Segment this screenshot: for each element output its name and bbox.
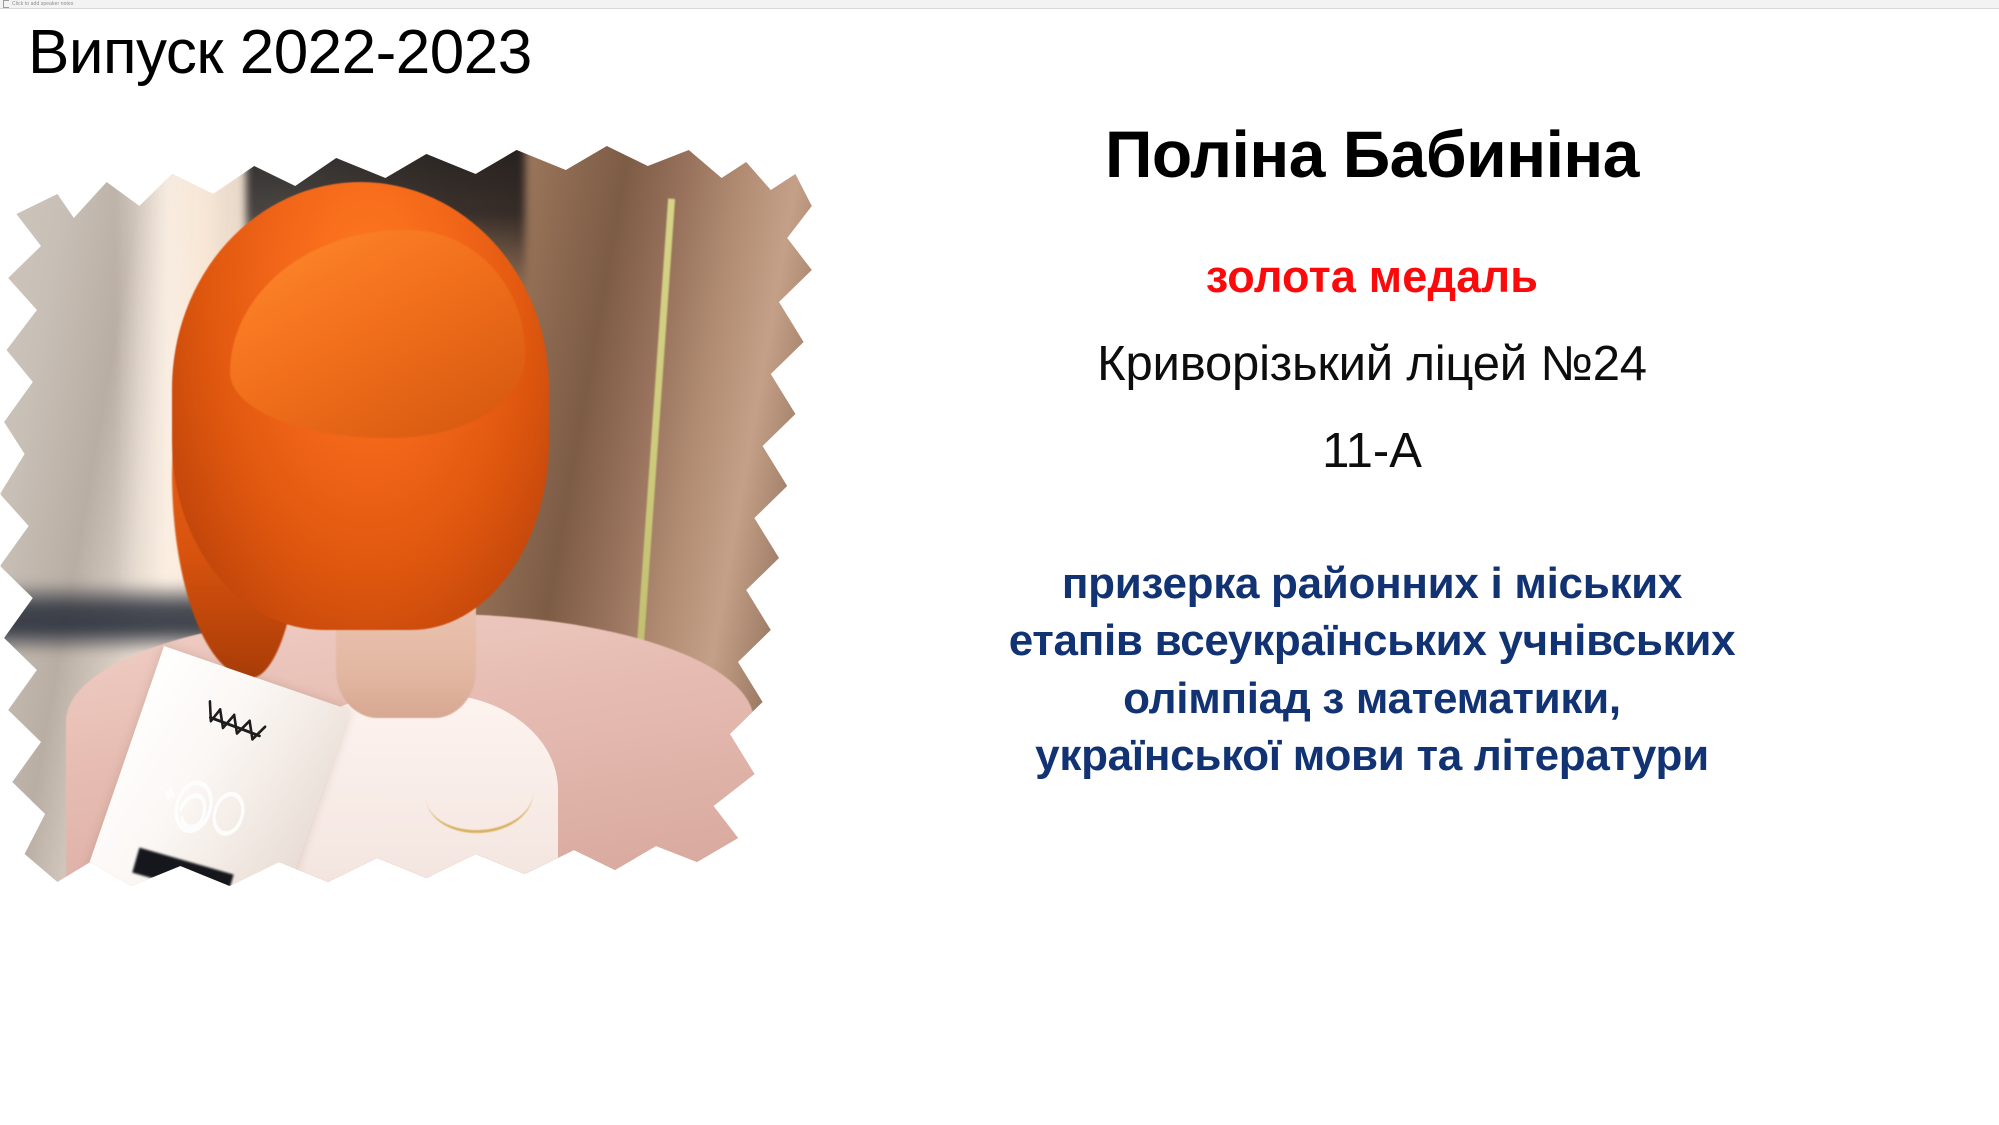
portrait-subject xyxy=(0,118,820,918)
medal-award-label: золота медаль xyxy=(745,252,1999,302)
sash-ornament-icon xyxy=(144,759,278,864)
achievement-line: олімпіад з математики, xyxy=(745,670,1999,727)
speaker-notes-hint-bar[interactable]: Click to add speaker notes xyxy=(0,0,1999,9)
graduate-photo xyxy=(0,118,820,918)
achievement-line: етапів всеукраїнських учнівських xyxy=(745,612,1999,669)
achievements-text: призерка районних і міських етапів всеук… xyxy=(745,555,1999,784)
page-title: Випуск 2022-2023 xyxy=(28,22,532,84)
presentation-slide: Click to add speaker notes Випуск 2022-2… xyxy=(0,0,1999,1125)
trident-emblem-icon xyxy=(194,696,276,752)
graduate-info-panel: Поліна Бабиніна золота медаль Криворізьк… xyxy=(745,120,1999,784)
achievement-line: української мови та літератури xyxy=(745,727,1999,784)
notes-flag-icon xyxy=(3,0,9,8)
graduate-name: Поліна Бабиніна xyxy=(745,120,1999,190)
achievement-line: призерка районних і міських xyxy=(745,555,1999,612)
photo-brush-mask xyxy=(0,118,820,918)
speaker-notes-hint-text: Click to add speaker notes xyxy=(12,1,74,7)
sash-dark-stripe xyxy=(133,848,235,900)
school-name: Криворізький ліцей №24 xyxy=(745,337,1999,392)
class-grade: 11-А xyxy=(745,424,1999,479)
